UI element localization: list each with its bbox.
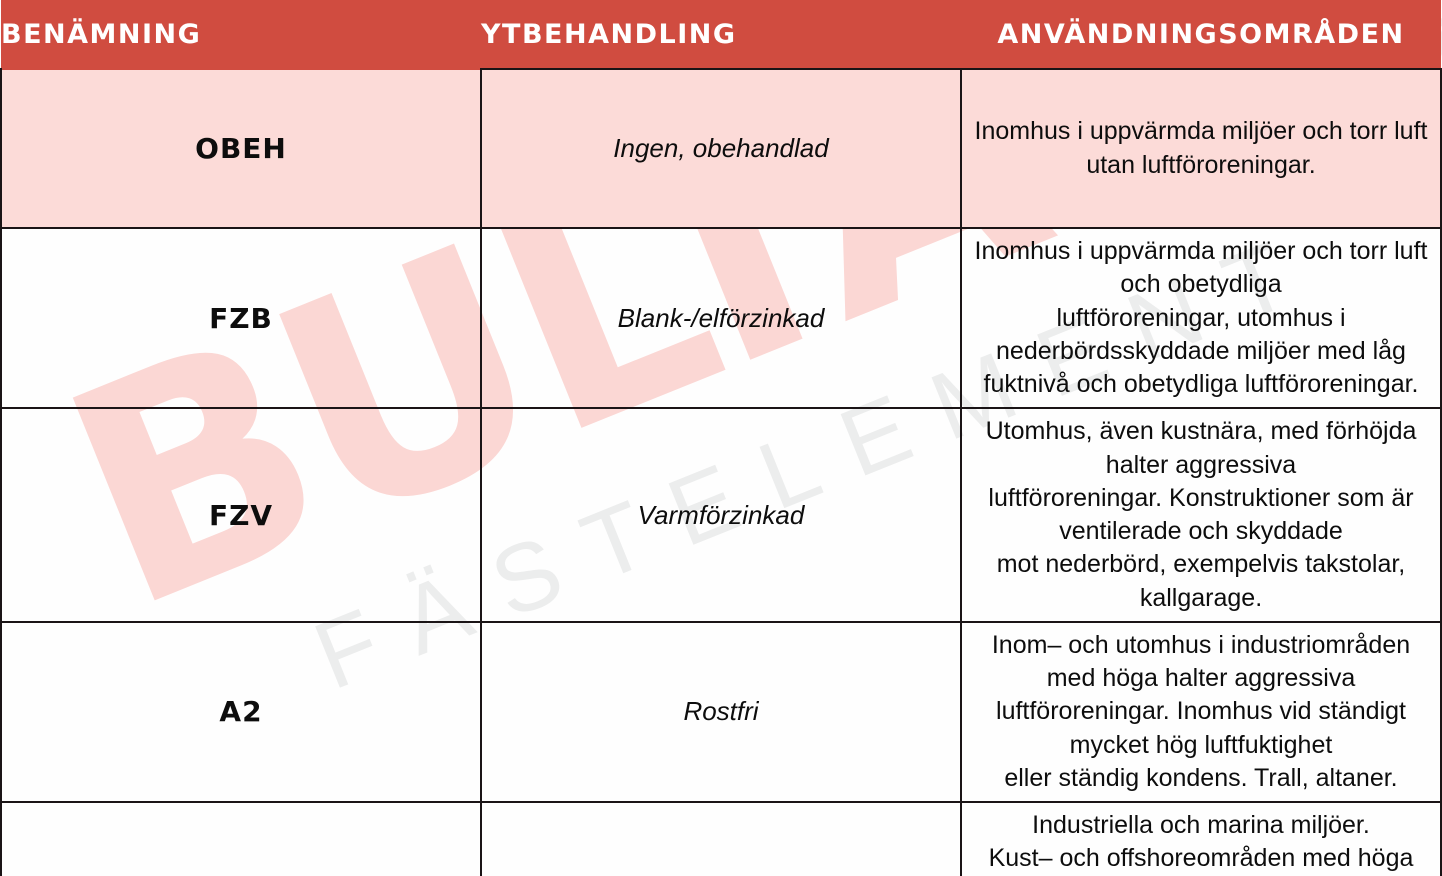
usage-line: Inomhus i uppvärmda miljöer och torr luf… bbox=[972, 115, 1430, 182]
cell-code: OBEH bbox=[1, 69, 481, 228]
column-header-ytbehandling: YTBEHANDLING bbox=[481, 0, 961, 69]
table-row: A2 Rostfri Inom– och utomhus i industrio… bbox=[1, 622, 1441, 802]
usage-line: Utomhus, även kustnära, med förhöjda hal… bbox=[972, 415, 1430, 482]
cell-code: FZB bbox=[1, 228, 481, 408]
usage-line: luftföroreningar. Inomhus vid ständigt m… bbox=[972, 695, 1430, 762]
cell-usage: Inomhus i uppvärmda miljöer och torr luf… bbox=[961, 69, 1441, 228]
cell-treatment: Varmförzinkad bbox=[481, 408, 961, 622]
usage-line: mot nederbörd, exempelvis takstolar, kal… bbox=[972, 548, 1430, 615]
cell-code: A4 bbox=[1, 802, 481, 876]
table-body: OBEH Ingen, obehandlad Inomhus i uppvärm… bbox=[1, 69, 1441, 876]
column-header-benamning: BENÄMNING bbox=[1, 0, 481, 69]
table-page: BULTAB FÄSTELEMENT BULTAB FÄSTELEMENT BE… bbox=[0, 0, 1442, 876]
cell-treatment: Blank-/elförzinkad bbox=[481, 228, 961, 408]
usage-line: Industriella och marina miljöer. bbox=[972, 809, 1430, 842]
surface-treatment-table: BENÄMNING YTBEHANDLING ANVÄNDNINGSOMRÅDE… bbox=[0, 0, 1442, 876]
usage-line: Kust– och offshoreområden med höga salth… bbox=[972, 842, 1430, 876]
cell-usage: Utomhus, även kustnära, med förhöjda hal… bbox=[961, 408, 1441, 622]
table-row: FZB Blank-/elförzinkad Inomhus i uppvärm… bbox=[1, 228, 1441, 408]
usage-line: luftföroreningar. Konstruktioner som är … bbox=[972, 482, 1430, 549]
cell-code: A2 bbox=[1, 622, 481, 802]
cell-usage: Industriella och marina miljöer. Kust– o… bbox=[961, 802, 1441, 876]
table-row: OBEH Ingen, obehandlad Inomhus i uppvärm… bbox=[1, 69, 1441, 228]
cell-treatment: Rostfri, syrafast bbox=[481, 802, 961, 876]
cell-usage: Inom– och utomhus i industriområden med … bbox=[961, 622, 1441, 802]
column-header-anvandningsomraden: ANVÄNDNINGSOMRÅDEN bbox=[961, 0, 1441, 69]
usage-line: Inom– och utomhus i industriområden med … bbox=[972, 629, 1430, 696]
cell-code: FZV bbox=[1, 408, 481, 622]
usage-line: eller ständig kondens. Trall, altaner. bbox=[972, 762, 1430, 795]
table-row: FZV Varmförzinkad Utomhus, även kustnära… bbox=[1, 408, 1441, 622]
table-header: BENÄMNING YTBEHANDLING ANVÄNDNINGSOMRÅDE… bbox=[1, 0, 1441, 69]
cell-treatment: Ingen, obehandlad bbox=[481, 69, 961, 228]
usage-line: fuktnivå och obetydliga luftföroreningar… bbox=[972, 368, 1430, 401]
usage-line: luftföroreningar, utomhus i nederbördssk… bbox=[972, 302, 1430, 369]
cell-usage: Inomhus i uppvärmda miljöer och torr luf… bbox=[961, 228, 1441, 408]
usage-line: Inomhus i uppvärmda miljöer och torr luf… bbox=[972, 235, 1430, 302]
header-row: BENÄMNING YTBEHANDLING ANVÄNDNINGSOMRÅDE… bbox=[1, 0, 1441, 69]
cell-treatment: Rostfri bbox=[481, 622, 961, 802]
table-row: A4 Rostfri, syrafast Industriella och ma… bbox=[1, 802, 1441, 876]
